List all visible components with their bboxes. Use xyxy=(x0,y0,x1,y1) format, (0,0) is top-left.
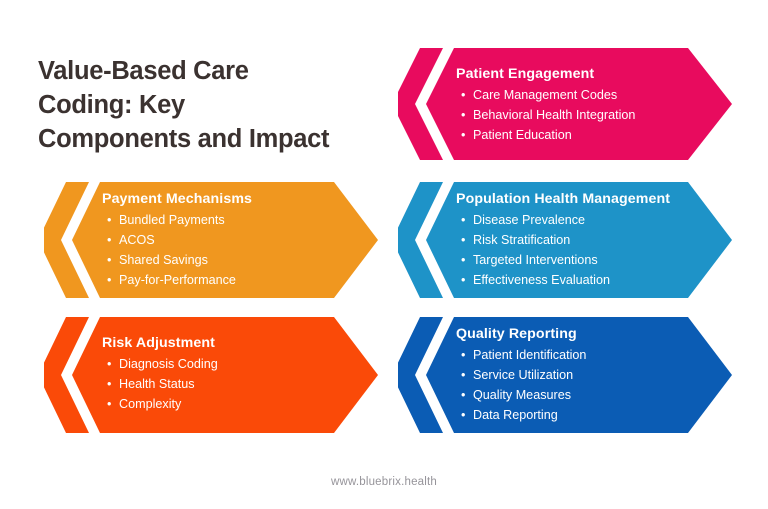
bullet-icon: • xyxy=(461,251,465,271)
list-item: •Effectiveness Evaluation xyxy=(473,271,670,291)
bullet-icon: • xyxy=(107,375,111,395)
list-item-label: Service Utilization xyxy=(473,368,573,382)
bullet-icon: • xyxy=(461,106,465,126)
list-item: •Behavioral Health Integration xyxy=(473,106,635,126)
bullet-icon: • xyxy=(461,346,465,366)
bullet-icon: • xyxy=(461,126,465,146)
infographic-canvas: Value-Based Care Coding: Key Components … xyxy=(0,0,768,509)
list-item-label: Care Management Codes xyxy=(473,88,617,102)
list-item: •Shared Savings xyxy=(119,251,252,271)
card-payment-mechanisms[interactable]: Payment Mechanisms •Bundled Payments •AC… xyxy=(44,178,392,302)
list-item-label: Complexity xyxy=(119,397,181,411)
card-content: Quality Reporting •Patient Identificatio… xyxy=(456,326,586,426)
bullet-icon: • xyxy=(461,231,465,251)
card-bullet-list: •Care Management Codes •Behavioral Healt… xyxy=(456,86,635,146)
list-item: •Patient Identification xyxy=(473,346,586,366)
bullet-icon: • xyxy=(107,395,111,415)
footer: www.bluebrix.health xyxy=(0,472,768,490)
card-heading: Quality Reporting xyxy=(456,326,586,343)
card-heading: Patient Engagement xyxy=(456,66,635,83)
list-item-label: Shared Savings xyxy=(119,253,208,267)
list-item-label: Quality Measures xyxy=(473,388,571,402)
card-bullet-list: •Disease Prevalence •Risk Stratification… xyxy=(456,211,670,291)
card-content: Payment Mechanisms •Bundled Payments •AC… xyxy=(102,191,252,291)
bullet-icon: • xyxy=(461,386,465,406)
list-item-label: Effectiveness Evaluation xyxy=(473,273,610,287)
card-bullet-list: •Diagnosis Coding •Health Status •Comple… xyxy=(102,355,218,415)
list-item-label: Data Reporting xyxy=(473,408,558,422)
bullet-icon: • xyxy=(107,211,111,231)
list-item: •Bundled Payments xyxy=(119,211,252,231)
card-bullet-list: •Patient Identification •Service Utiliza… xyxy=(456,346,586,426)
bullet-icon: • xyxy=(461,271,465,291)
bullet-icon: • xyxy=(461,366,465,386)
list-item: •Targeted Interventions xyxy=(473,251,670,271)
list-item: •Risk Stratification xyxy=(473,231,670,251)
list-item-label: Patient Identification xyxy=(473,348,586,362)
card-heading: Risk Adjustment xyxy=(102,335,218,352)
list-item: •Disease Prevalence xyxy=(473,211,670,231)
list-item: •Patient Education xyxy=(473,126,635,146)
card-patient-engagement[interactable]: Patient Engagement •Care Management Code… xyxy=(398,44,746,164)
list-item: •Service Utilization xyxy=(473,366,586,386)
list-item-label: Disease Prevalence xyxy=(473,213,585,227)
footer-website-url[interactable]: www.bluebrix.health xyxy=(331,476,437,488)
list-item-label: Bundled Payments xyxy=(119,213,225,227)
page-title: Value-Based Care Coding: Key Components … xyxy=(38,55,388,157)
list-item-label: Targeted Interventions xyxy=(473,253,598,267)
list-item-label: ACOS xyxy=(119,233,155,247)
bullet-icon: • xyxy=(107,355,111,375)
list-item-label: Behavioral Health Integration xyxy=(473,108,635,122)
list-item-label: Pay-for-Performance xyxy=(119,273,236,287)
card-bullet-list: •Bundled Payments •ACOS •Shared Savings … xyxy=(102,211,252,291)
list-item: •Quality Measures xyxy=(473,386,586,406)
list-item: •ACOS xyxy=(119,231,252,251)
bullet-icon: • xyxy=(461,86,465,106)
card-population-health-management[interactable]: Population Health Management •Disease Pr… xyxy=(398,178,746,302)
list-item-label: Risk Stratification xyxy=(473,233,570,247)
list-item: •Health Status xyxy=(119,375,218,395)
list-item: •Pay-for-Performance xyxy=(119,271,252,291)
bullet-icon: • xyxy=(107,271,111,291)
card-quality-reporting[interactable]: Quality Reporting •Patient Identificatio… xyxy=(398,313,746,437)
card-heading: Population Health Management xyxy=(456,191,670,208)
card-content: Patient Engagement •Care Management Code… xyxy=(456,66,635,146)
list-item-label: Diagnosis Coding xyxy=(119,357,218,371)
list-item: •Care Management Codes xyxy=(473,86,635,106)
card-heading: Payment Mechanisms xyxy=(102,191,252,208)
list-item: •Complexity xyxy=(119,395,218,415)
list-item: •Data Reporting xyxy=(473,406,586,426)
card-content: Risk Adjustment •Diagnosis Coding •Healt… xyxy=(102,335,218,415)
list-item: •Diagnosis Coding xyxy=(119,355,218,375)
bullet-icon: • xyxy=(461,406,465,426)
arrow-shape-risk-adjustment xyxy=(44,313,392,437)
bullet-icon: • xyxy=(461,211,465,231)
list-item-label: Health Status xyxy=(119,377,195,391)
page-title-text: Value-Based Care Coding: Key Components … xyxy=(38,55,388,157)
list-item-label: Patient Education xyxy=(473,128,572,142)
bullet-icon: • xyxy=(107,251,111,271)
bullet-icon: • xyxy=(107,231,111,251)
card-risk-adjustment[interactable]: Risk Adjustment •Diagnosis Coding •Healt… xyxy=(44,313,392,437)
card-content: Population Health Management •Disease Pr… xyxy=(456,191,670,291)
